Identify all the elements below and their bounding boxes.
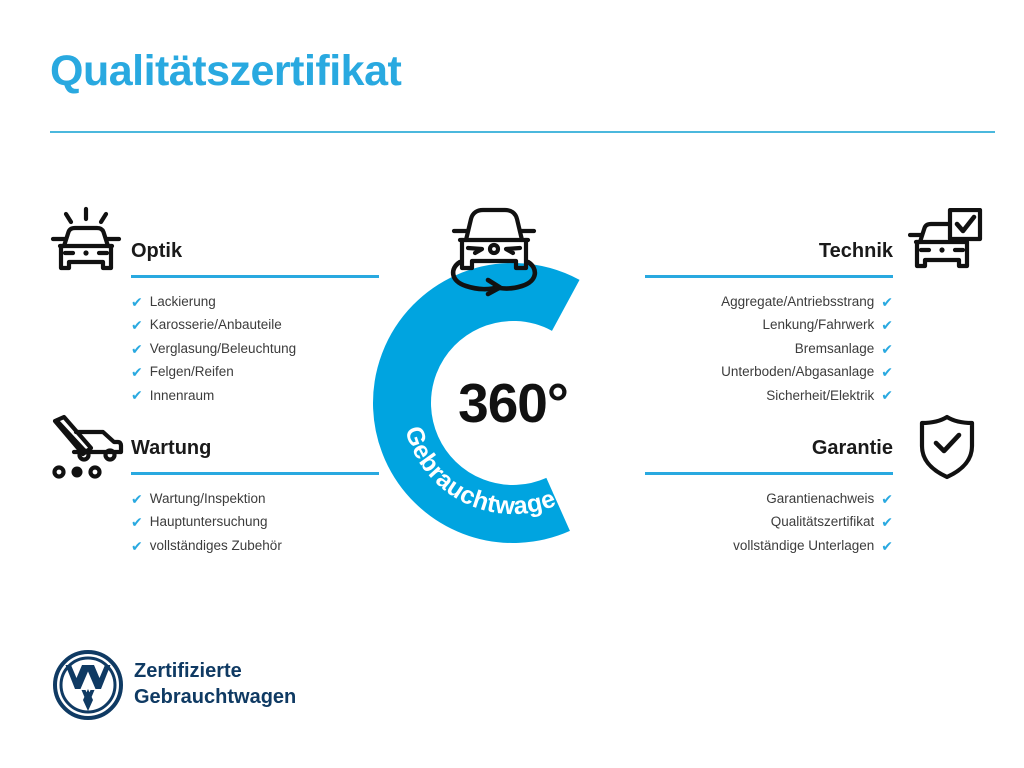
vw-logo <box>52 649 124 721</box>
footer-line-1: Zertifizierte <box>134 658 296 684</box>
list-item-label: Felgen/Reifen <box>150 360 234 383</box>
section-optik: Optik ✔ Lackierung ✔ Karosserie/Anbautei… <box>131 238 379 407</box>
list-item-label: Sicherheit/Elektrik <box>766 384 874 407</box>
car-shine-icon <box>46 206 126 278</box>
section-wartung-header: Wartung <box>131 435 379 475</box>
section-garantie-title: Garantie <box>645 435 893 461</box>
section-optik-list: ✔ Lackierung ✔ Karosserie/Anbauteile ✔ V… <box>131 290 379 407</box>
list-item: vollständige Unterlagen ✔ <box>645 534 893 557</box>
check-icon: ✔ <box>881 388 893 402</box>
list-item: ✔ Wartung/Inspektion <box>131 487 379 510</box>
check-icon: ✔ <box>131 318 143 332</box>
check-icon: ✔ <box>881 515 893 529</box>
check-icon: ✔ <box>131 388 143 402</box>
car-checkbox-icon <box>908 208 984 278</box>
section-wartung-title: Wartung <box>131 435 379 461</box>
list-item-label: vollständiges Zubehör <box>150 534 282 557</box>
list-item-label: Lenkung/Fahrwerk <box>762 313 874 336</box>
list-item-label: Verglasung/Beleuchtung <box>150 337 296 360</box>
section-garantie-list: Garantienachweis ✔ Qualitätszertifikat ✔… <box>645 487 893 557</box>
section-garantie-divider <box>645 472 893 475</box>
list-item-label: Karosserie/Anbauteile <box>150 313 282 336</box>
check-icon: ✔ <box>131 492 143 506</box>
list-item: Sicherheit/Elektrik ✔ <box>645 384 893 407</box>
check-icon: ✔ <box>131 365 143 379</box>
check-icon: ✔ <box>881 492 893 506</box>
list-item-label: Lackierung <box>150 290 216 313</box>
section-wartung: Wartung ✔ Wartung/Inspektion ✔ Hauptunte… <box>131 435 379 557</box>
section-garantie-header: Garantie <box>645 435 893 475</box>
list-item-label: Hauptuntersuchung <box>150 510 268 533</box>
list-item-label: vollständige Unterlagen <box>733 534 874 557</box>
list-item-label: Wartung/Inspektion <box>150 487 266 510</box>
certificate-page: Qualitätszertifikat <box>0 0 1024 768</box>
check-icon: ✔ <box>131 515 143 529</box>
check-icon: ✔ <box>881 539 893 553</box>
section-technik-title: Technik <box>645 238 893 264</box>
check-icon: ✔ <box>881 295 893 309</box>
check-icon: ✔ <box>881 365 893 379</box>
header-divider <box>50 131 995 133</box>
list-item-label: Bremsanlage <box>795 337 875 360</box>
list-item: ✔ Karosserie/Anbauteile <box>131 313 379 336</box>
shield-check-icon <box>918 414 976 480</box>
check-icon: ✔ <box>131 342 143 356</box>
list-item-label: Garantienachweis <box>766 487 874 510</box>
section-technik: Technik Aggregate/Antriebsstrang ✔ Lenku… <box>645 238 893 407</box>
list-item: Lenkung/Fahrwerk ✔ <box>645 313 893 336</box>
page-title: Qualitätszertifikat <box>50 48 401 95</box>
check-icon: ✔ <box>881 342 893 356</box>
section-wartung-divider <box>131 472 379 475</box>
section-technik-header: Technik <box>645 238 893 278</box>
list-item: Bremsanlage ✔ <box>645 337 893 360</box>
list-item: Unterboden/Abgasanlage ✔ <box>645 360 893 383</box>
list-item: ✔ Hauptuntersuchung <box>131 510 379 533</box>
section-optik-divider <box>131 275 379 278</box>
list-item-label: Aggregate/Antriebsstrang <box>721 290 874 313</box>
list-item: Qualitätszertifikat ✔ <box>645 510 893 533</box>
check-icon: ✔ <box>131 539 143 553</box>
pen-car-service-icon <box>46 414 126 482</box>
check-icon: ✔ <box>131 295 143 309</box>
section-optik-header: Optik <box>131 238 379 278</box>
footer-line-2: Gebrauchtwagen <box>134 684 296 710</box>
list-item: ✔ vollständiges Zubehör <box>131 534 379 557</box>
list-item: ✔ Innenraum <box>131 384 379 407</box>
section-optik-title: Optik <box>131 238 379 264</box>
section-technik-list: Aggregate/Antriebsstrang ✔ Lenkung/Fahrw… <box>645 290 893 407</box>
footer-brand-text: Zertifizierte Gebrauchtwagen <box>134 658 296 710</box>
section-wartung-list: ✔ Wartung/Inspektion ✔ Hauptuntersuchung… <box>131 487 379 557</box>
list-item: Aggregate/Antriebsstrang ✔ <box>645 290 893 313</box>
section-technik-divider <box>645 275 893 278</box>
list-item-label: Innenraum <box>150 384 215 407</box>
gebrauchtwagen-check-badge: Gebrauchtwagen-Check 360° <box>372 262 654 544</box>
list-item-label: Unterboden/Abgasanlage <box>721 360 874 383</box>
section-garantie: Garantie Garantienachweis ✔ Qualitätszer… <box>645 435 893 557</box>
list-item-label: Qualitätszertifikat <box>771 510 875 533</box>
list-item: ✔ Felgen/Reifen <box>131 360 379 383</box>
list-item: Garantienachweis ✔ <box>645 487 893 510</box>
list-item: ✔ Verglasung/Beleuchtung <box>131 337 379 360</box>
list-item: ✔ Lackierung <box>131 290 379 313</box>
check-icon: ✔ <box>881 318 893 332</box>
car-front-rotate-icon <box>430 202 558 302</box>
